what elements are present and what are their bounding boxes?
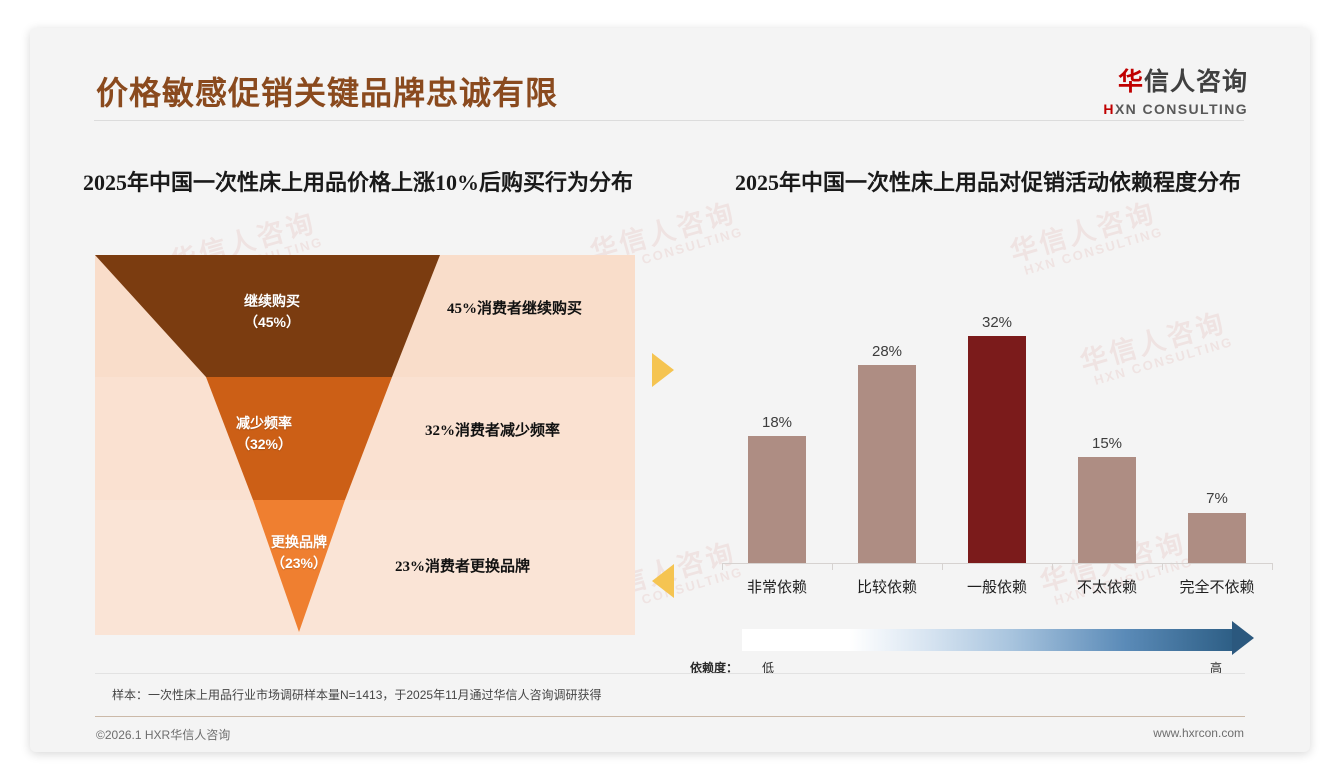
bar-rect[interactable] [858, 365, 916, 563]
funnel-segment-value: （32%） [236, 436, 292, 452]
bar-plot-area: 18% 28% 32% 15% 7% [722, 308, 1272, 563]
axis-tick [1162, 563, 1163, 570]
bar-column[interactable]: 7% [1162, 308, 1272, 563]
bar-category-label: 非常依赖 [722, 576, 832, 597]
funnel-segment-label: 更换品牌 （23%） [234, 532, 364, 574]
funnel-segment-value: （45%） [244, 314, 300, 330]
bar-rect[interactable] [1188, 513, 1246, 563]
bar-value-label: 15% [1092, 435, 1122, 452]
axis-tick [1052, 563, 1053, 570]
bar-column[interactable]: 18% [722, 308, 832, 563]
footnote-divider [95, 673, 1245, 674]
bar-axis-line [722, 563, 1272, 564]
dependency-scale: 依赖度： 低 高 [690, 623, 1290, 683]
footer-website[interactable]: www.hxrcon.com [1153, 726, 1244, 740]
funnel-segment-name: 减少频率 [236, 415, 292, 431]
axis-tick [1272, 563, 1273, 570]
funnel-segment-name: 继续购买 [244, 293, 300, 309]
brand-logo-en-highlight: H [1103, 101, 1115, 117]
funnel-segment-name: 更换品牌 [271, 534, 327, 550]
scale-gradient-bar [742, 629, 1232, 651]
bar-value-label: 32% [982, 314, 1012, 331]
bar-category-label: 完全不依赖 [1162, 576, 1272, 597]
funnel-segment-label: 继续购买 （45%） [207, 291, 337, 333]
brand-logo-cn: 华信人咨询 [1103, 62, 1248, 98]
bar-column[interactable]: 15% [1052, 308, 1162, 563]
footer-copyright: ©2026.1 HXR华信人咨询 [96, 726, 230, 743]
funnel-segment-value: （23%） [271, 555, 327, 571]
brand-logo: 华信人咨询 HXN CONSULTING [1103, 62, 1248, 117]
bar-category-label: 一般依赖 [942, 576, 1052, 597]
bar-rect[interactable] [1078, 457, 1136, 563]
bar-category-label: 比较依赖 [832, 576, 942, 597]
brand-logo-cn-highlight: 华 [1118, 68, 1144, 96]
bar-column[interactable]: 28% [832, 308, 942, 563]
bar-chart-title: 2025年中国一次性床上用品对促销活动依赖程度分布 [678, 168, 1298, 198]
bar-value-label: 7% [1206, 490, 1228, 507]
bar-value-label: 18% [762, 414, 792, 431]
bar-chart: 18% 28% 32% 15% 7% [690, 238, 1290, 628]
triangle-left-icon [652, 564, 674, 598]
brand-logo-en-rest: XN CONSULTING [1115, 101, 1248, 117]
bar-value-label: 28% [872, 343, 902, 360]
header-divider [94, 120, 1244, 121]
funnel-chart-title: 2025年中国一次性床上用品价格上涨10%后购买行为分布 [48, 168, 668, 198]
funnel-annotation: 23%消费者更换品牌 [395, 555, 530, 576]
axis-tick [942, 563, 943, 570]
scale-arrow-icon [1232, 621, 1254, 655]
funnel-chart: 继续购买 （45%） 减少频率 （32%） 更换品牌 （23%） 45%消费者继… [95, 255, 635, 635]
brand-logo-en: HXN CONSULTING [1103, 101, 1248, 117]
axis-tick [832, 563, 833, 570]
page-title: 价格敏感促销关键品牌忠诚有限 [96, 68, 558, 114]
funnel-annotation: 45%消费者继续购买 [447, 297, 582, 318]
bar-category-label: 不太依赖 [1052, 576, 1162, 597]
triangle-right-icon [652, 353, 674, 387]
brand-logo-cn-rest: 信人咨询 [1144, 68, 1248, 96]
slide-canvas: 华信人咨询 HXN CONSULTING 华信人咨询 HXN CONSULTIN… [30, 28, 1310, 752]
bar-column[interactable]: 32% [942, 308, 1052, 563]
funnel-segment-label: 减少频率 （32%） [199, 413, 329, 455]
funnel-annotation: 32%消费者减少频率 [425, 419, 560, 440]
bar-rect[interactable] [748, 436, 806, 563]
footnote-text: 样本：一次性床上用品行业市场调研样本量N=1413，于2025年11月通过华信人… [112, 686, 602, 703]
axis-tick [722, 563, 723, 570]
footer-divider [95, 716, 1245, 717]
bar-rect-highlight[interactable] [968, 336, 1026, 563]
